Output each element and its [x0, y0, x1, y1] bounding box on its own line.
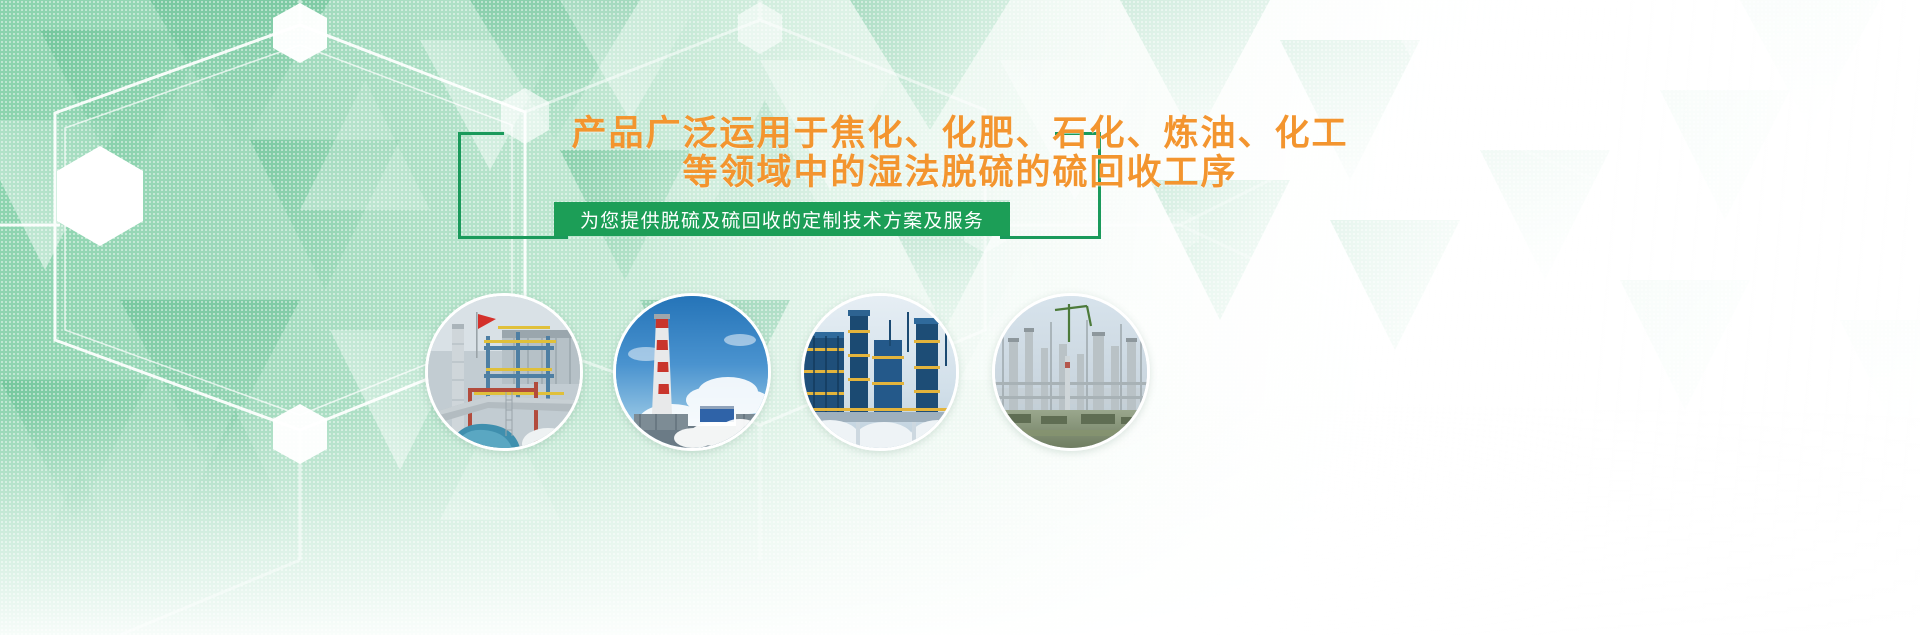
photo-refinery-towers[interactable] [992, 293, 1150, 451]
photo-3-art [804, 296, 956, 448]
photo-2-art [616, 296, 768, 448]
photo-strip [0, 0, 1920, 635]
photo-chimney-blue-sky[interactable] [613, 293, 771, 451]
photo-refinery-piping[interactable] [425, 293, 583, 451]
hero-banner: 产品广泛运用于焦化、化肥、石化、炼油、化工 等领域中的湿法脱硫的硫回收工序 为您… [0, 0, 1920, 635]
photo-blue-plant[interactable] [801, 293, 959, 451]
photo-1-art [428, 296, 580, 448]
photo-4-art [995, 296, 1147, 448]
